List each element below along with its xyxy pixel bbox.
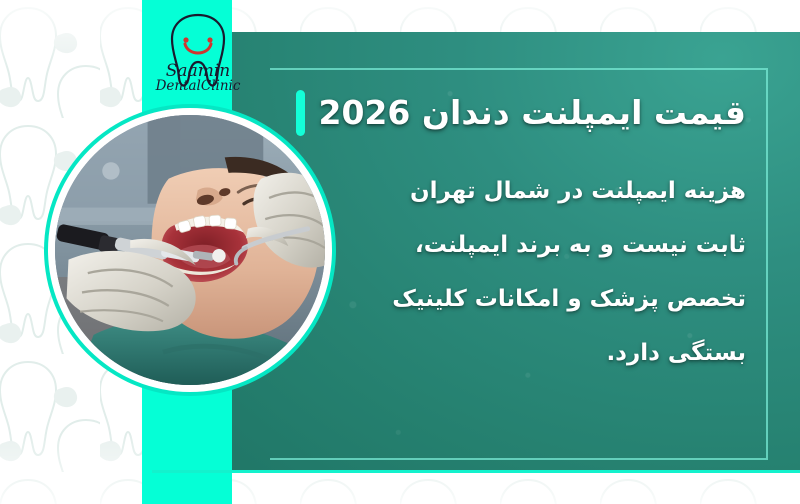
body-line-2: ثابت نیست و به برند ایمپلنت، (284, 234, 746, 257)
page-title: قیمت ایمپلنت دندان 2026 (319, 95, 747, 132)
body-line-3: تخصص پزشک و امکانات کلینیک (284, 288, 746, 311)
saamin-dental-clinic-logo: Saamin DentalClinic (152, 6, 244, 94)
headline-row: قیمت ایمپلنت دندان 2026 (296, 90, 747, 136)
body-paragraph: هزینه ایمپلنت در شمال تهران ثابت نیست و … (284, 180, 746, 365)
body-line-4: بستگی دارد. (284, 342, 746, 365)
title-accent-bar (296, 90, 305, 136)
panel-bottom-cyan-line (152, 470, 800, 473)
logo-line2: DentalClinic (155, 78, 241, 94)
dental-clinic-banner: Saamin DentalClinic (0, 0, 800, 504)
body-line-1: هزینه ایمپلنت در شمال تهران (284, 180, 746, 203)
text-content-area: قیمت ایمپلنت دندان 2026 هزینه ایمپلنت در… (270, 68, 746, 456)
